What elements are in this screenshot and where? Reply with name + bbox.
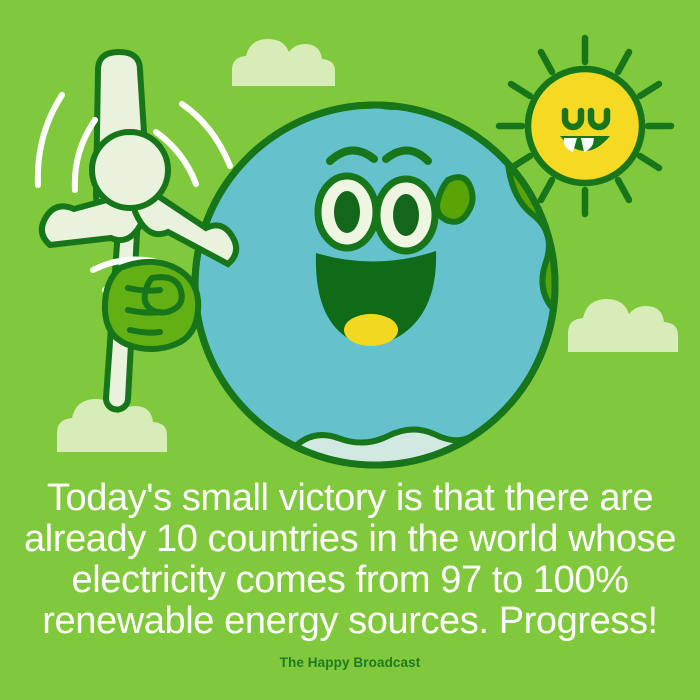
earth-pupil-right bbox=[393, 194, 419, 236]
hand-finger-line-1 bbox=[128, 288, 160, 291]
poster-canvas: Today's small victory is that there are … bbox=[0, 0, 700, 700]
sun-disc bbox=[528, 69, 642, 183]
caption-line-3: electricity comes from 97 to 100% bbox=[18, 560, 682, 601]
hand-finger-line-2 bbox=[128, 310, 160, 313]
hand-thumb bbox=[145, 277, 182, 312]
earth-pupil-left bbox=[334, 191, 360, 233]
earth-island bbox=[437, 177, 473, 222]
earth-hand bbox=[105, 262, 198, 349]
earth-tongue bbox=[344, 314, 398, 346]
footer-credit: The Happy Broadcast bbox=[0, 655, 700, 670]
caption-text: Today's small victory is that there are … bbox=[0, 478, 700, 642]
caption-line-4: renewable energy sources. Progress! bbox=[18, 601, 682, 642]
caption-line-2: already 10 countries in the world whose bbox=[18, 519, 682, 560]
hand-finger-line-3 bbox=[130, 330, 160, 333]
caption-line-1: Today's small victory is that there are bbox=[18, 478, 682, 519]
turbine-hub bbox=[92, 132, 168, 208]
